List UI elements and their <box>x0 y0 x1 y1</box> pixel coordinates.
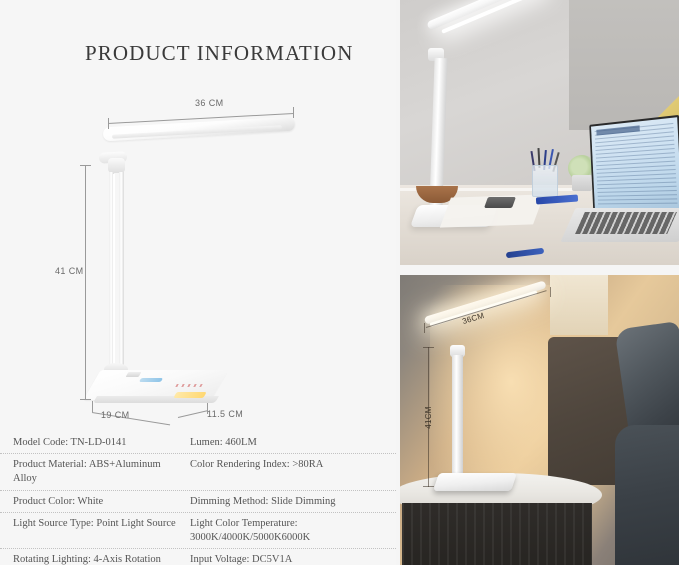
spec-light-source-type: Light Source Type: Point Light Source <box>0 513 186 548</box>
dimension-line-base-depth <box>178 410 207 418</box>
nightstand-body <box>402 503 592 565</box>
dimension-label-height: 41 CM <box>55 266 84 276</box>
lamp-base-touch-slider <box>139 378 163 382</box>
photo-dimension-label-height: 41CM <box>424 406 433 429</box>
bedroom-lamp-base <box>433 473 517 491</box>
specification-table: Model Code: TN-LD-0141 Lumen: 460LM Prod… <box>0 432 396 565</box>
spec-lumen: Lumen: 460LM <box>186 432 396 453</box>
table-row: Light Source Type: Point Light Source Li… <box>0 513 396 549</box>
left-info-panel: PRODUCT INFORMATION 36 CM <box>0 0 396 565</box>
product-information-page: PRODUCT INFORMATION 36 CM <box>0 0 679 565</box>
table-row: Model Code: TN-LD-0141 Lumen: 460LM <box>0 432 396 454</box>
lamp-base-accent-strip <box>173 392 206 398</box>
bedroom-wall-panel <box>550 275 608 335</box>
photo-dimension-tick-height-top <box>423 347 434 348</box>
spec-product-color: Product Color: White <box>0 491 186 512</box>
spec-rotating-lighting: Rotating Lighting: 4-Axis Rotation <box>0 549 186 565</box>
lamp-dimension-diagram: 36 CM 41 CM 19 CM 11.5 CM <box>0 0 396 430</box>
dimension-label-base-width: 19 CM <box>101 410 130 420</box>
nightstand-ribbed-texture <box>402 503 592 565</box>
laptop-keyboard <box>575 212 677 234</box>
photo-lamp-on-desk <box>400 0 679 265</box>
spec-light-color-temperature: Light Color Temperature: 3000K/4000K/500… <box>186 513 396 548</box>
bed-blanket <box>615 425 679 565</box>
spec-input-voltage: Input Voltage: DC5V1A <box>186 549 396 565</box>
dimension-label-base-depth: 11.5 CM <box>207 409 243 419</box>
table-row: Product Color: White Dimming Method: Sli… <box>0 491 396 513</box>
dimension-label-head-length: 36 CM <box>195 98 224 108</box>
dimension-line-height <box>85 165 86 400</box>
usb-hub <box>484 197 516 208</box>
lamp-arm-highlight <box>113 174 115 366</box>
dimension-tick-height-bottom <box>80 399 91 400</box>
desk-photo-wall-right <box>569 0 679 130</box>
spec-color-rendering-index: Color Rendering Index: >80RA <box>186 454 396 489</box>
lamp-base-indicator-dots <box>175 384 203 387</box>
spec-product-material: Product Material: ABS+Aluminum Alloy <box>0 454 186 489</box>
lamp-arm-right <box>119 172 124 370</box>
photo-lamp-on-nightstand: 36CM 41CM <box>400 275 679 565</box>
lamp-upper-joint <box>108 158 125 173</box>
bedroom-lamp-arm <box>452 355 463 477</box>
potted-plant-pot <box>572 175 592 191</box>
photo-dimension-tick-head-right <box>550 287 551 297</box>
spec-model-code: Model Code: TN-LD-0141 <box>0 432 186 453</box>
dimension-tick-height-top <box>80 165 91 166</box>
photo-dimension-tick-head-left <box>424 323 425 333</box>
photo-dimension-tick-height-bottom <box>423 486 434 487</box>
table-row: Rotating Lighting: 4-Axis Rotation Input… <box>0 549 396 565</box>
table-row: Product Material: ABS+Aluminum Alloy Col… <box>0 454 396 490</box>
pen-cup <box>532 165 558 197</box>
dimension-tick-base-width-left <box>92 401 93 412</box>
laptop-screen-content-rows <box>595 123 678 205</box>
spec-dimming-method: Dimming Method: Slide Dimming <box>186 491 396 512</box>
dimension-tick-head-right <box>293 107 294 118</box>
laptop-screen <box>589 115 679 212</box>
dimension-tick-head-left <box>108 118 109 129</box>
